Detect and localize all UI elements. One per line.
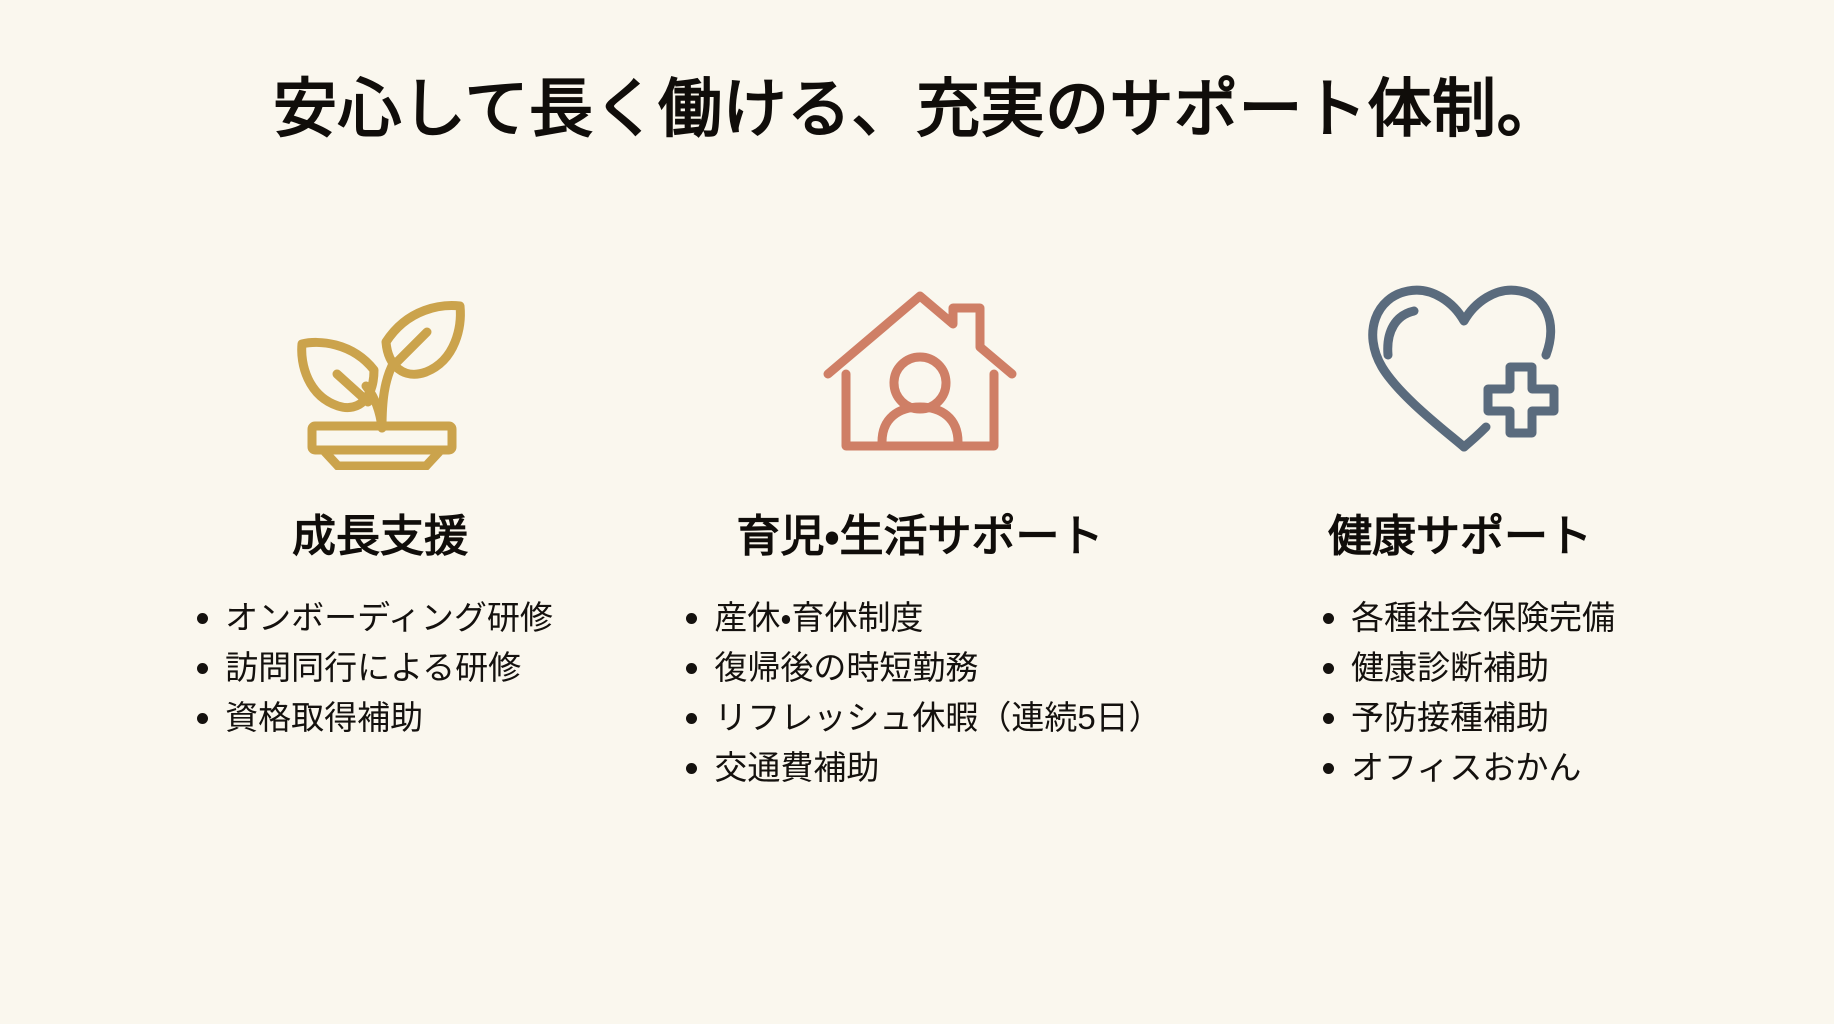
page-title: 安心して長く働ける、充実のサポート体制。 [273,74,1561,146]
support-column-health: 健康サポート 各種社会保険完備 健康診断補助 予防接種補助 オフィスおかん [1200,270,1720,793]
column-heading-growth: 成長支援 [292,512,468,563]
list-item: リフレッシュ休暇（連続5日） [678,693,1161,743]
title-container: 安心して長く働ける、充実のサポート体制。 [0,74,1834,146]
list-item: 資格取得補助 [189,693,553,743]
list-item: 健康診断補助 [1315,643,1615,693]
list-item: 予防接種補助 [1315,693,1615,743]
list-item: 各種社会保険完備 [1315,593,1615,643]
list-item: オンボーディング研修 [189,593,553,643]
slide-root: 安心して長く働ける、充実のサポート体制。 [0,0,1834,1024]
list-item: 復帰後の時短勤務 [678,643,1161,693]
list-item: 産休・育休制度 [678,593,1161,643]
support-column-family: 育児・生活サポート 産休・育休制度 復帰後の時短勤務 リフレッシュ休暇（連続5日… [660,270,1180,793]
house-person-icon [820,270,1020,470]
list-item: オフィスおかん [1315,743,1615,793]
list-item: 交通費補助 [678,743,1161,793]
support-columns: 成長支援 オンボーディング研修 訪問同行による研修 資格取得補助 [120,270,1720,793]
heart-medical-cross-icon [1360,270,1560,470]
benefit-list-growth: オンボーディング研修 訪問同行による研修 資格取得補助 [189,593,553,743]
support-column-growth: 成長支援 オンボーディング研修 訪問同行による研修 資格取得補助 [120,270,640,743]
sprout-plant-icon [290,270,470,470]
benefit-list-health: 各種社会保険完備 健康診断補助 予防接種補助 オフィスおかん [1315,593,1615,794]
list-item: 訪問同行による研修 [189,643,553,693]
column-heading-health: 健康サポート [1328,512,1592,563]
benefit-list-family: 産休・育休制度 復帰後の時短勤務 リフレッシュ休暇（連続5日） 交通費補助 [678,593,1161,794]
column-heading-family: 育児・生活サポート [737,512,1104,563]
